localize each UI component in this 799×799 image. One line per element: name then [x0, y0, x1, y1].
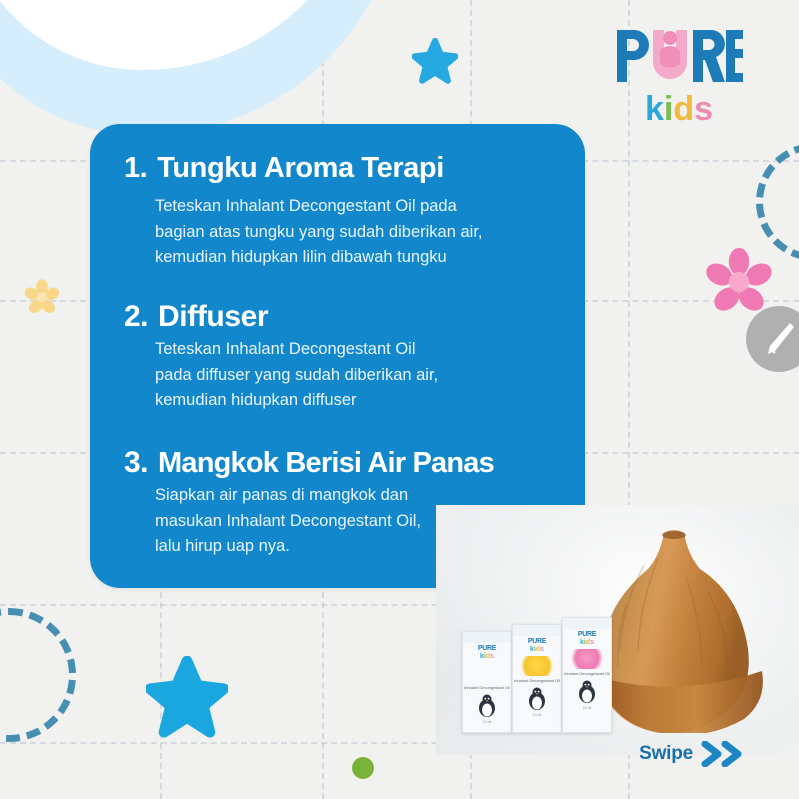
penguin-icon: [476, 694, 498, 718]
step-heading: 1. Tungku Aroma Terapi: [124, 152, 565, 185]
star-icon: [146, 656, 228, 738]
brand-logo: kids: [613, 22, 743, 127]
product-box-desc: Inhalant Decongestant Oil: [463, 685, 511, 690]
product-box-desc: Inhalant Decongestant Oil: [513, 678, 561, 683]
product-box-logo: PURE: [513, 636, 561, 646]
product-box-group: PURE kids Inhalant Decongestant Oil 10 m…: [462, 617, 634, 737]
dashed-circle-decor: [0, 608, 76, 742]
penguin-icon: [526, 687, 548, 711]
star-icon: [412, 38, 458, 84]
product-box: PURE kids Inhalant Decongestant Oil 10 m…: [562, 617, 612, 733]
cloud-shape: [0, 0, 400, 135]
pencil-edit-button[interactable]: [746, 306, 799, 372]
product-box: PURE kids Inhalant Decongestant Oil 10 m…: [512, 624, 562, 733]
product-box-kids: kids: [563, 639, 611, 647]
decor-dot: [352, 757, 374, 779]
product-box-desc: Inhalant Decongestant Oil: [563, 671, 611, 676]
step-heading: 3. Mangkok Berisi Air Panas: [124, 446, 565, 480]
step-heading: 2. Diffuser: [124, 300, 565, 334]
step-item: 2. Diffuser Teteskan Inhalant Decongesta…: [124, 300, 565, 414]
step-description: Teteskan Inhalant Decongestant Oil pada …: [155, 337, 565, 414]
pencil-edit-icon: [762, 321, 796, 357]
step-title: Mangkok Berisi Air Panas: [158, 447, 494, 480]
flower-icon: [705, 248, 773, 316]
step-number: 2.: [124, 300, 148, 334]
product-box-logo: PURE: [563, 629, 611, 639]
swipe-label: Swipe: [639, 743, 693, 765]
flower-icon: [24, 279, 60, 315]
step-number: 1.: [124, 152, 147, 185]
product-box-kids: kids: [513, 646, 561, 654]
penguin-icon: [576, 680, 598, 704]
poster-canvas: kids 1. Tungku Aroma Terapi Teteskan Inh…: [0, 0, 799, 799]
product-box: PURE kids Inhalant Decongestant Oil 10 m…: [462, 631, 512, 733]
step-description: Teteskan Inhalant Decongestant Oil pada …: [155, 194, 565, 271]
swipe-indicator[interactable]: Swipe: [639, 741, 745, 767]
step-title: Tungku Aroma Terapi: [157, 152, 444, 185]
product-box-kids: kids: [463, 653, 511, 661]
double-chevron-right-icon: [701, 741, 745, 767]
step-number: 3.: [124, 446, 148, 480]
svg-text:kids: kids: [645, 90, 713, 126]
step-item: 1. Tungku Aroma Terapi Teteskan Inhalant…: [124, 152, 565, 271]
step-title: Diffuser: [158, 300, 268, 334]
product-box-logo: PURE: [463, 643, 511, 653]
product-photo: PURE kids Inhalant Decongestant Oil 10 m…: [436, 505, 799, 755]
